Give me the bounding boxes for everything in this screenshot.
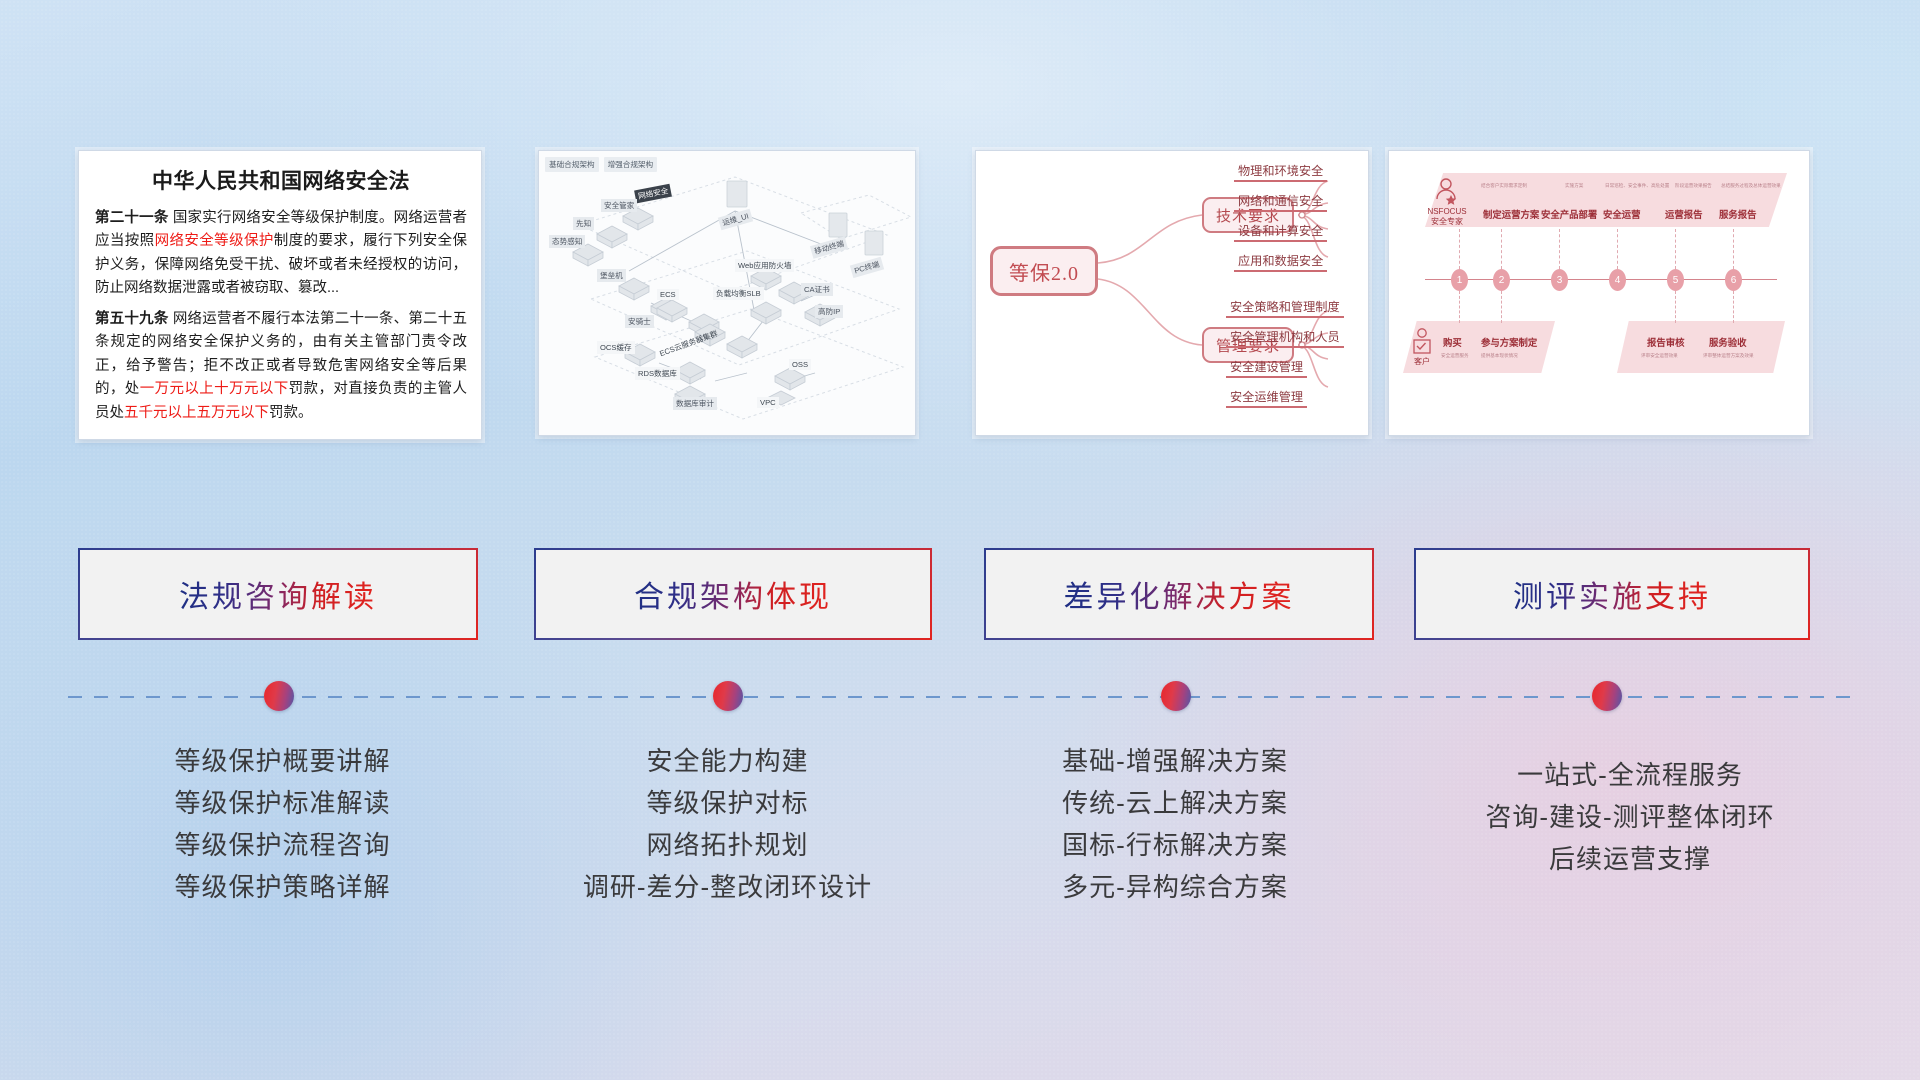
law-article-59: 第五十九条 网络运营者不履行本法第二十一条、第二十五条规定的网络安全保护义务的，… [95,308,467,425]
mindmap-leaf-physical-env: 物理和环境安全 [1234,161,1327,182]
heading-label-1: 法规咨询解读 [179,572,377,616]
node-label-oss: OSS [789,359,811,370]
node-label-database-audit: 数据库审计 [673,397,717,410]
bottom-title-1: 购买 [1443,335,1462,349]
heading-box-compliance-architecture[interactable]: 合规架构体现 [534,548,932,640]
detail-column-2: 安全能力构建 等级保护对标 网络拓扑规划 调研-差分-整改闭环设计 [505,740,950,908]
mindmap-leaf-policy-system: 安全策略和管理制度 [1226,297,1344,318]
connector-4 [1617,229,1618,269]
node-label-ecs: ECS [657,289,679,300]
heading-label-2: 合规架构体现 [634,572,832,616]
top-title-2: 安全产品部署 [1541,207,1597,221]
step-marker-6[interactable]: 6 [1725,269,1742,291]
bottom-title-2: 参与方案制定 [1481,335,1537,349]
preview-card-mindmap[interactable]: 等保2.0 技术要求 管理要求 物理和环境安全 网络和通信安全 设备和计算安全 … [975,150,1369,436]
top-title-3: 安全运营 [1603,207,1641,221]
mindmap-leaf-device-compute: 设备和计算安全 [1234,221,1327,242]
node-label-rds-database: RDS数据库 [635,367,680,380]
node-label-waf: Web应用防火墙 [735,259,794,272]
detail-item: 一站式-全流程服务 [1395,754,1865,796]
preview-card-row: 中华人民共和国网络安全法 第二十一条 国家实行网络安全等级保护制度。网络运营者应… [0,150,1920,442]
node-label-anqishi: 安骑士 [625,315,654,328]
bottom-sub-4: 评审整体运营方案及效果 [1703,353,1754,359]
detail-item: 等级保护策略详解 [60,866,505,908]
heading-label-3: 差异化解决方案 [1064,572,1295,616]
article-21-label: 第二十一条 [95,210,169,226]
detail-item: 传统-云上解决方案 [950,782,1400,824]
detail-item: 多元-异构综合方案 [950,866,1400,908]
connector-1 [1459,229,1460,269]
mindmap-diagram: 等保2.0 技术要求 管理要求 物理和环境安全 网络和通信安全 设备和计算安全 … [976,151,1368,435]
brand-name: NSFOCUS [1419,207,1475,216]
top-sub-5: 总结服务过程及总体运营效果 [1721,183,1781,189]
connector-b4 [1733,291,1734,323]
mindmap-leaf-ops-mgmt: 安全运维管理 [1226,387,1307,408]
nsfocus-timeline: NSFOCUS 安全专家 客户 结合客户实际需求定制 实施方案 日常巡检、安全事… [1389,151,1809,435]
article-59-text-c: 罚款。 [269,405,313,421]
detail-item: 等级保护标准解读 [60,782,505,824]
step-marker-5[interactable]: 5 [1667,269,1684,291]
node-label-anti-ddos-ip: 高防IP [815,305,843,318]
node-label-ca-certificate: CA证书 [801,283,833,296]
customer-band-right [1617,321,1785,373]
heading-box-regulation-consulting[interactable]: 法规咨询解读 [78,548,478,640]
heading-box-assessment-support[interactable]: 测评实施支持 [1414,548,1810,640]
bottom-sub-2: 提供基本现状情况 [1481,353,1518,359]
step-marker-2[interactable]: 2 [1493,269,1510,291]
node-label-bastion-host: 堡垒机 [597,269,626,282]
mindmap-root: 等保2.0 [990,246,1098,296]
brand-subtitle: 安全专家 [1419,217,1475,226]
detail-item: 调研-差分-整改闭环设计 [505,866,950,908]
mindmap-leaf-org-personnel: 安全管理机构和人员 [1226,327,1344,348]
detail-item: 基础-增强解决方案 [950,740,1400,782]
heading-box-differentiated-solution[interactable]: 差异化解决方案 [984,548,1374,640]
detail-item: 等级保护概要讲解 [60,740,505,782]
detail-item: 网络拓扑规划 [505,824,950,866]
expert-icon [1433,177,1459,205]
step-marker-1[interactable]: 1 [1451,269,1468,291]
detail-item: 国标-行标解决方案 [950,824,1400,866]
law-document: 中华人民共和国网络安全法 第二十一条 国家实行网络安全等级保护制度。网络运营者应… [79,151,481,440]
preview-card-architecture[interactable]: 基础合规架构 增强合规架构 [538,150,916,436]
detail-item: 后续运营支撑 [1395,838,1865,880]
connector-5 [1675,229,1676,269]
article-21-highlight: 网络安全等级保护 [155,233,274,249]
preview-card-service-timeline[interactable]: NSFOCUS 安全专家 客户 结合客户实际需求定制 实施方案 日常巡检、安全事… [1388,150,1810,436]
step-marker-4[interactable]: 4 [1609,269,1626,291]
connector-b1 [1459,291,1460,323]
timeline-dashed-line [68,695,1858,699]
node-label-xianzhi: 先知 [573,217,594,230]
detail-item: 等级保护对标 [505,782,950,824]
timeline-dot-2[interactable] [713,681,743,711]
top-sub-1: 结合客户实际需求定制 [1481,183,1527,189]
law-title: 中华人民共和国网络安全法 [95,165,467,195]
detail-item: 安全能力构建 [505,740,950,782]
detail-column-4: 一站式-全流程服务 咨询-建设-测评整体闭环 后续运营支撑 [1395,754,1865,880]
timeline-dot-4[interactable] [1592,681,1622,711]
bottom-sub-3: 评审安全运营效果 [1641,353,1678,359]
law-article-21: 第二十一条 国家实行网络安全等级保护制度。网络运营者应当按照网络安全等级保护制度… [95,207,467,301]
preview-card-law[interactable]: 中华人民共和国网络安全法 第二十一条 国家实行网络安全等级保护制度。网络运营者应… [78,150,482,440]
timeline-dot-1[interactable] [264,681,294,711]
detail-column-1: 等级保护概要讲解 等级保护标准解读 等级保护流程咨询 等级保护策略详解 [60,740,505,908]
mindmap-leaf-construction-mgmt: 安全建设管理 [1226,357,1307,378]
node-label-situation-awareness: 态势感知 [549,235,585,248]
architecture-diagram: 基础合规架构 增强合规架构 [539,151,915,435]
top-sub-3: 日常巡检、安全事件、高危处置 [1605,183,1669,189]
heading-label-4: 测评实施支持 [1513,572,1711,616]
bottom-title-3: 报告审核 [1647,335,1685,349]
customer-icon [1411,327,1433,357]
step-marker-3[interactable]: 3 [1551,269,1568,291]
customer-label: 客户 [1403,357,1441,366]
node-label-vpc: VPC [757,397,779,408]
connector-6 [1733,229,1734,269]
bottom-title-4: 服务验收 [1709,335,1747,349]
connector-2 [1501,229,1502,269]
bottom-sub-1: 安全运营服务 [1441,353,1469,359]
detail-item: 等级保护流程咨询 [60,824,505,866]
mindmap-leaf-network-comm: 网络和通信安全 [1234,191,1327,212]
top-sub-2: 实施方案 [1565,183,1583,189]
connector-3 [1559,229,1560,269]
top-title-1: 制定运营方案 [1483,207,1539,221]
connector-b2 [1501,291,1502,323]
article-59-label: 第五十九条 [95,311,169,327]
detail-item: 咨询-建设-测评整体闭环 [1395,796,1865,838]
top-title-5: 服务报告 [1719,207,1757,221]
node-label-security-butler: 安全管家 [601,199,637,212]
top-title-4: 运营报告 [1665,207,1703,221]
heading-row: 法规咨询解读 合规架构体现 差异化解决方案 测评实施支持 [0,548,1920,644]
node-label-slb: 负载均衡SLB [713,287,764,300]
timeline-dot-3[interactable] [1161,681,1191,711]
article-59-highlight-2: 五千元以上五万元以下 [124,405,269,421]
top-sub-4: 阶段运营效果报告 [1675,183,1712,189]
connector-b3 [1675,291,1676,323]
detail-column-3: 基础-增强解决方案 传统-云上解决方案 国标-行标解决方案 多元-异构综合方案 [950,740,1400,908]
mindmap-leaf-app-data: 应用和数据安全 [1234,251,1327,272]
node-label-ocs-cache: OCS缓存 [597,341,635,354]
article-59-highlight-1: 一万元以上十万元以下 [140,381,289,397]
